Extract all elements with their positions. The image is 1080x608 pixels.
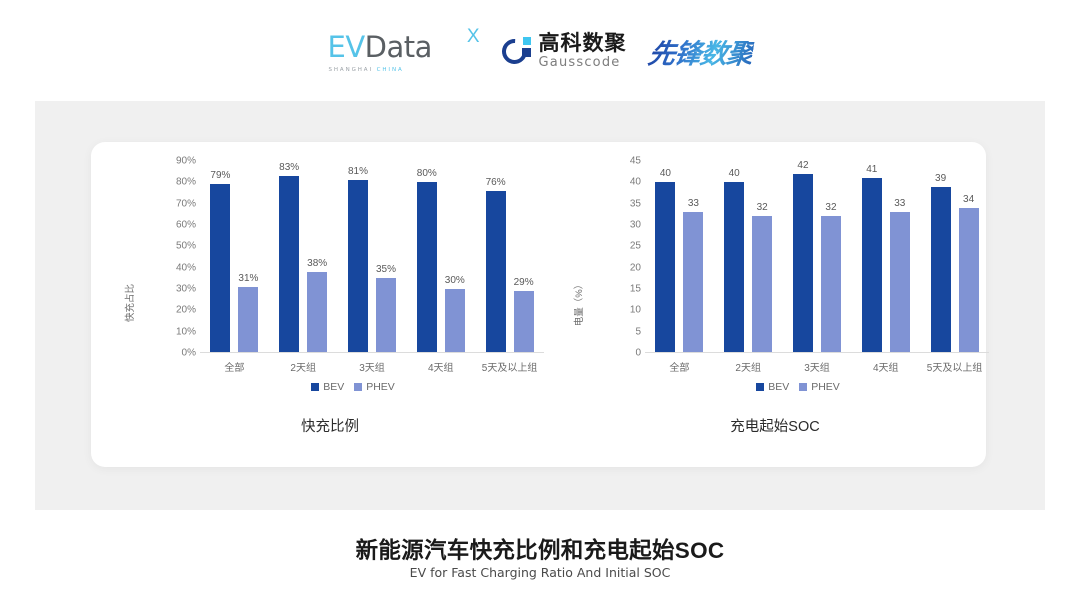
chart-right-y-axis-title: 电量（%） [571,280,585,326]
evdata-shanghai-text: SHANGHAI [329,67,374,73]
chart-right-y-tick: 5 [635,326,641,337]
bar-value-label: 39 [935,173,946,184]
x-axis-label: 3天组 [783,359,852,375]
bar-value-label: 80% [417,168,437,179]
bar-fill [821,216,841,353]
legend-label: PHEV [811,381,840,393]
bar-fill [307,272,327,353]
x-axis-label: 2天组 [269,359,338,375]
bar-fill [486,191,506,353]
bar-phev[interactable]: 33 [890,212,910,353]
chart-left-y-tick: 90% [176,156,196,167]
bar-bev[interactable]: 79% [210,184,230,353]
bar-value-label: 79% [210,170,230,181]
gausscode-square-icon [522,48,531,57]
evdata-data-text: Data [365,30,432,64]
bar-fill [210,184,230,353]
chart-right-x-labels: 全部2天组3天组4天组5天及以上组 [645,359,989,375]
bar-fill [238,287,258,353]
bar-phev[interactable]: 29% [514,291,534,353]
chart-left-y-tick: 20% [176,305,196,316]
bar-phev[interactable]: 34 [959,208,979,353]
gausscode-mark-icon [502,36,532,66]
bar-value-label: 81% [348,166,368,177]
bar-bev[interactable]: 81% [348,180,368,353]
chart-right-y-tick: 40 [630,177,641,188]
gausscode-cn-text: 高科数聚 [539,33,627,54]
bar-fill [655,182,675,353]
x-axis-label: 5天及以上组 [475,359,544,375]
bar-bev[interactable]: 40 [724,182,744,353]
chart-initial-soc: 电量（%） 051015202530354045 403340324232413… [555,153,995,453]
bar-value-label: 29% [514,277,534,288]
chart-right-legend: BEVPHEV [607,381,989,393]
chart-left-axis-line [200,352,544,353]
bar-fill [890,212,910,353]
bar-bev[interactable]: 42 [793,174,813,353]
bar-fill [376,278,396,353]
legend-item-phev[interactable]: PHEV [354,381,395,393]
bar-phev[interactable]: 30% [445,289,465,353]
chart-right-plot-area: 051015202530354045 40334032423241333934 [607,161,989,353]
chart-left-y-tick: 70% [176,198,196,209]
chart-right-y-tick: 20 [630,262,641,273]
evdata-logo: EVData X SHANGHAI CHINA [328,28,480,74]
chart-right-y-tick: 15 [630,284,641,295]
bar-bev[interactable]: 39 [931,187,951,353]
bar-bev[interactable]: 83% [279,176,299,353]
bar-fill [752,216,772,353]
chart-right-y-tick: 45 [630,156,641,167]
chart-right-axis-line [645,352,989,353]
bar-value-label: 42 [797,160,808,171]
x-axis-label: 3天组 [338,359,407,375]
bar-phev[interactable]: 33 [683,212,703,353]
x-axis-label: 全部 [645,359,714,375]
xianfeng-logo: 先锋数聚 [645,32,755,71]
bar-value-label: 76% [486,177,506,188]
bar-fill [959,208,979,353]
evdata-wordmark: EVData [328,30,432,64]
legend-swatch-icon [311,383,319,391]
chart-left-bars: 79%31%83%38%81%35%80%30%76%29% [200,161,544,353]
legend-item-phev[interactable]: PHEV [799,381,840,393]
bar-value-label: 40 [729,168,740,179]
evdata-ev-text: EV [328,30,365,64]
chart-right-y-tick: 0 [635,348,641,359]
chart-right-y-tick: 35 [630,198,641,209]
bar-group: 83%38% [269,161,338,353]
bar-value-label: 30% [445,275,465,286]
bar-value-label: 33 [688,198,699,209]
x-axis-label: 4天组 [406,359,475,375]
legend-swatch-icon [799,383,807,391]
bar-value-label: 40 [660,168,671,179]
charts-container: 快充占比 0%10%20%30%40%50%60%70%80%90% 79%31… [35,101,1045,510]
evdata-china-text: CHINA [377,67,404,73]
legend-swatch-icon [756,383,764,391]
chart-right-y-tick: 25 [630,241,641,252]
bar-group: 4133 [851,161,920,353]
gausscode-text: 高科数聚 Gausscode [539,33,627,69]
bar-phev[interactable]: 35% [376,278,396,353]
bar-bev[interactable]: 76% [486,191,506,353]
bar-group: 76%29% [475,161,544,353]
legend-item-bev[interactable]: BEV [756,381,789,393]
bar-phev[interactable]: 32 [821,216,841,353]
bar-value-label: 34 [963,194,974,205]
chart-left-y-tick: 30% [176,284,196,295]
bar-bev[interactable]: 80% [417,182,437,353]
bar-value-label: 32 [825,202,836,213]
evdata-x-icon: X [467,26,480,48]
chart-right-caption: 充电起始SOC [555,415,995,436]
legend-item-bev[interactable]: BEV [311,381,344,393]
page-subtitle: EV for Fast Charging Ratio And Initial S… [0,565,1080,580]
bar-fill [793,174,813,353]
bar-fill [683,212,703,353]
chart-left-y-tick: 0% [182,348,196,359]
legend-label: BEV [768,381,789,393]
bar-phev[interactable]: 32 [752,216,772,353]
chart-left-caption: 快充比例 [110,415,550,436]
legend-label: PHEV [366,381,395,393]
bar-bev[interactable]: 40 [655,182,675,353]
chart-right-y-tick: 30 [630,220,641,231]
bar-phev[interactable]: 31% [238,287,258,353]
bar-fill [724,182,744,353]
x-axis-label: 4天组 [851,359,920,375]
bar-group: 4232 [783,161,852,353]
gausscode-en-text: Gausscode [539,56,627,69]
bar-value-label: 41 [866,164,877,175]
gausscode-dot-icon [523,37,531,45]
bar-phev[interactable]: 38% [307,272,327,353]
chart-left-y-tick: 50% [176,241,196,252]
bar-group: 79%31% [200,161,269,353]
legend-label: BEV [323,381,344,393]
evdata-tagline: SHANGHAI CHINA [329,67,404,73]
bar-value-label: 33 [894,198,905,209]
x-axis-label: 5天及以上组 [920,359,989,375]
bar-bev[interactable]: 41 [862,178,882,353]
bar-value-label: 31% [238,273,258,284]
bar-fill [931,187,951,353]
bar-fill [445,289,465,353]
bar-value-label: 83% [279,162,299,173]
bar-group: 80%30% [406,161,475,353]
bar-fill [417,182,437,353]
chart-left-y-tick: 80% [176,177,196,188]
bar-value-label: 35% [376,264,396,275]
bar-value-label: 38% [307,258,327,269]
chart-fast-charging-ratio: 快充占比 0%10%20%30%40%50%60%70%80%90% 79%31… [110,153,550,453]
chart-right-y-tick: 10 [630,305,641,316]
bar-group: 3934 [920,161,989,353]
gausscode-logo: 高科数聚 Gausscode [502,29,627,73]
bar-group: 4033 [645,161,714,353]
bar-group: 81%35% [338,161,407,353]
chart-right-bars: 40334032423241333934 [645,161,989,353]
bar-fill [862,178,882,353]
page-title: 新能源汽车快充比例和充电起始SOC [0,533,1080,565]
x-axis-label: 全部 [200,359,269,375]
chart-left-plot-area: 0%10%20%30%40%50%60%70%80%90% 79%31%83%3… [162,161,544,353]
chart-left-y-tick: 40% [176,262,196,273]
bar-fill [279,176,299,353]
bar-group: 4032 [714,161,783,353]
chart-left-legend: BEVPHEV [162,381,544,393]
bar-fill [514,291,534,353]
chart-left-x-labels: 全部2天组3天组4天组5天及以上组 [200,359,544,375]
legend-swatch-icon [354,383,362,391]
bar-value-label: 32 [757,202,768,213]
x-axis-label: 2天组 [714,359,783,375]
bar-fill [348,180,368,353]
chart-left-y-tick: 10% [176,326,196,337]
logo-bar: EVData X SHANGHAI CHINA 高科数聚 Gausscode 先… [0,22,1080,80]
chart-left-y-tick: 60% [176,220,196,231]
chart-left-y-axis-title: 快充占比 [122,284,136,322]
